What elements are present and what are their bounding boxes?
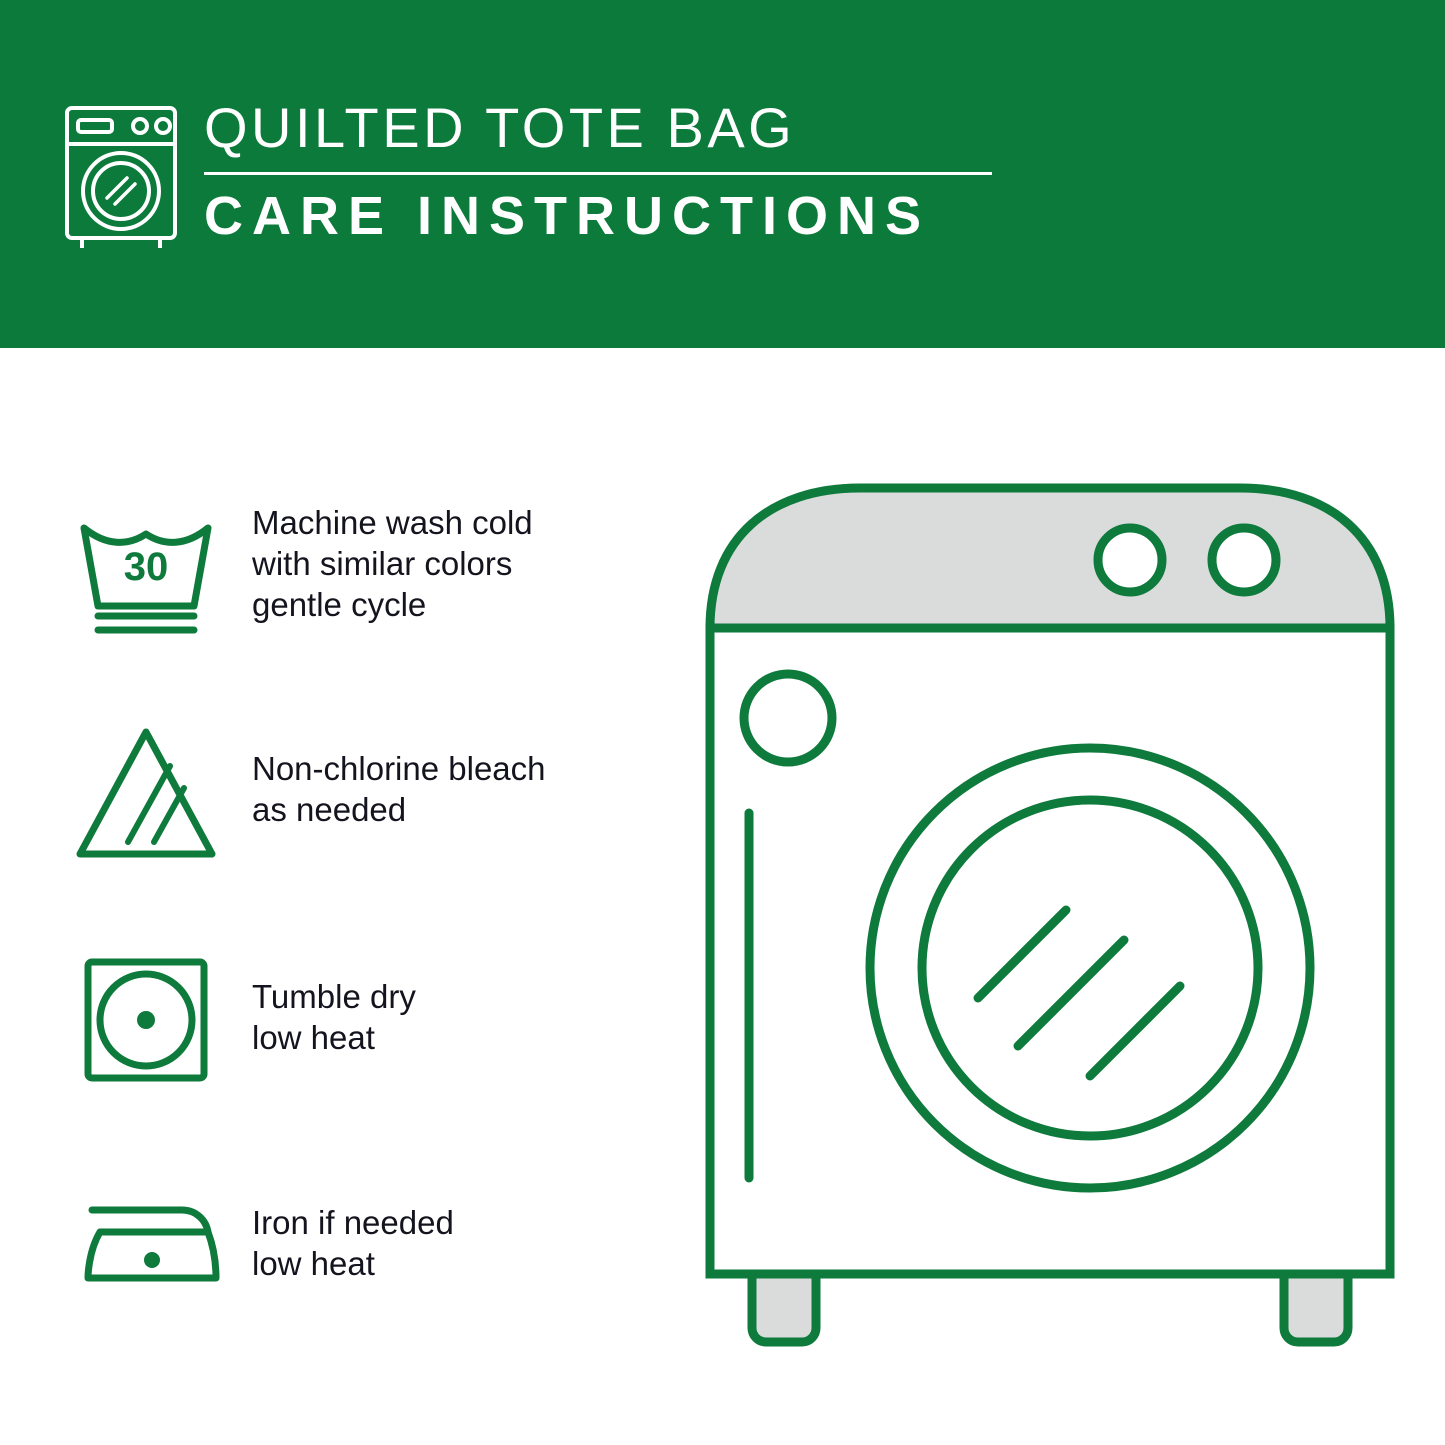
care-label-line: with similar colors — [252, 543, 533, 584]
non-chlorine-bleach-triangle-icon — [66, 714, 226, 874]
indicator-light — [744, 674, 832, 762]
care-label-line: Non-chlorine bleach — [252, 748, 546, 789]
list-item: Non-chlorine bleach as needed — [66, 714, 706, 874]
header-text-block: QUILTED TOTE BAG CARE INSTRUCTIONS — [204, 96, 992, 245]
wash-temp-value: 30 — [124, 545, 169, 589]
page-title: QUILTED TOTE BAG — [204, 98, 992, 158]
care-label-line: as needed — [252, 789, 546, 830]
control-panel — [710, 488, 1390, 630]
front-load-washing-machine-illustration — [700, 478, 1400, 1368]
page-subtitle: CARE INSTRUCTIONS — [204, 187, 992, 245]
care-instruction-list: 30 Machine wash cold with similar colors… — [66, 488, 706, 1326]
list-item: 30 Machine wash cold with similar colors… — [66, 488, 706, 648]
care-label-line: gentle cycle — [252, 584, 533, 625]
care-label: Machine wash cold with similar colors ge… — [252, 488, 533, 625]
care-label: Non-chlorine bleach as needed — [252, 714, 546, 830]
dial — [1212, 528, 1276, 592]
care-label: Tumble dry low heat — [252, 940, 416, 1058]
list-item: Tumble dry low heat — [66, 940, 706, 1100]
care-label-line: Tumble dry — [252, 976, 416, 1017]
care-label-line: Iron if needed — [252, 1202, 454, 1243]
care-label-line: low heat — [252, 1017, 416, 1058]
care-label: Iron if needed low heat — [252, 1166, 454, 1284]
care-instructions-page: QUILTED TOTE BAG CARE INSTRUCTIONS 30 — [0, 0, 1445, 1445]
title-divider — [204, 172, 992, 175]
content-area: 30 Machine wash cold with similar colors… — [0, 348, 1445, 1445]
wash-tub-30-icon: 30 — [66, 488, 226, 648]
list-item: Iron if needed low heat — [66, 1166, 706, 1326]
iron-low-heat-icon — [66, 1166, 226, 1326]
tumble-dry-low-icon — [66, 940, 226, 1100]
header-banner: QUILTED TOTE BAG CARE INSTRUCTIONS — [0, 0, 1445, 348]
care-label-line: Machine wash cold — [252, 502, 533, 543]
header-content: QUILTED TOTE BAG CARE INSTRUCTIONS — [62, 96, 992, 268]
washing-machine-icon — [62, 102, 180, 252]
care-label-line: low heat — [252, 1243, 454, 1284]
dial — [1098, 528, 1162, 592]
